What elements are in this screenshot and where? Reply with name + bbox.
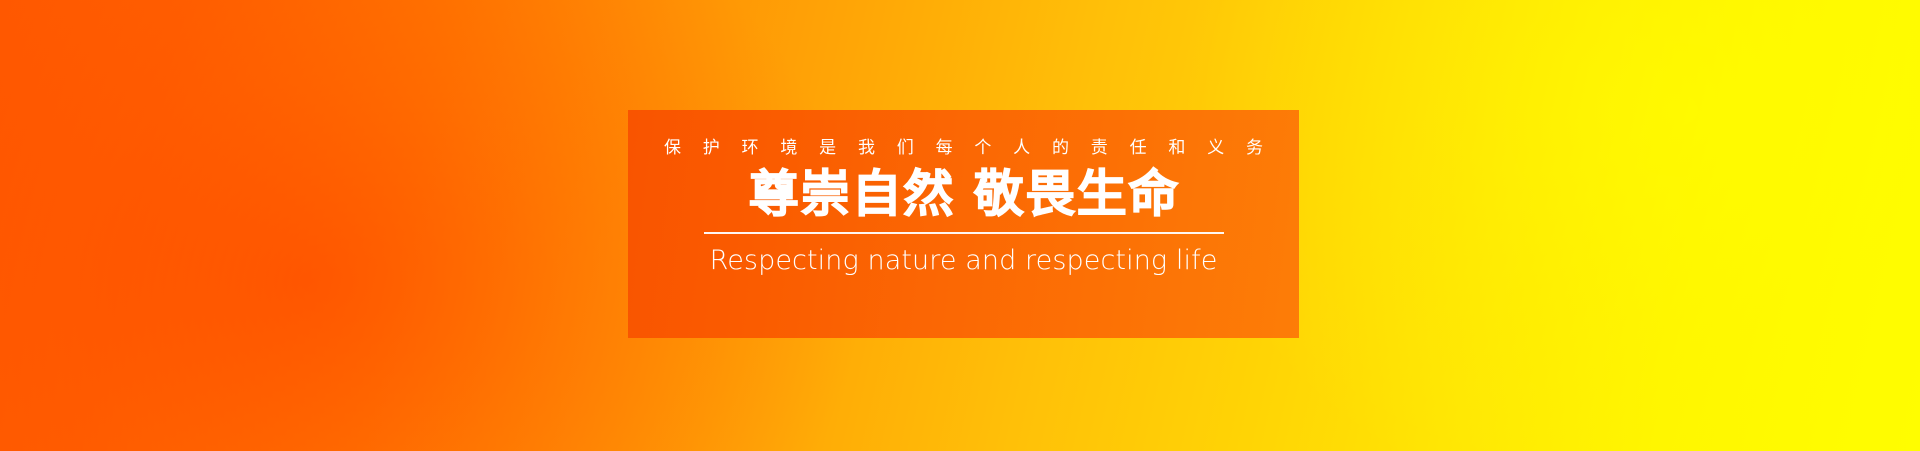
card-divider (704, 232, 1224, 234)
environment-banner: 保 护 环 境 是 我 们 每 个 人 的 责 任 和 义 务 尊崇自然 敬畏生… (0, 0, 1920, 451)
card-subtitle: Respecting nature and respecting life (710, 245, 1218, 277)
slogan-card: 保 护 环 境 是 我 们 每 个 人 的 责 任 和 义 务 尊崇自然 敬畏生… (628, 110, 1299, 338)
card-tagline: 保 护 环 境 是 我 们 每 个 人 的 责 任 和 义 务 (656, 138, 1271, 158)
card-headline: 尊崇自然 敬畏生命 (747, 165, 1179, 223)
